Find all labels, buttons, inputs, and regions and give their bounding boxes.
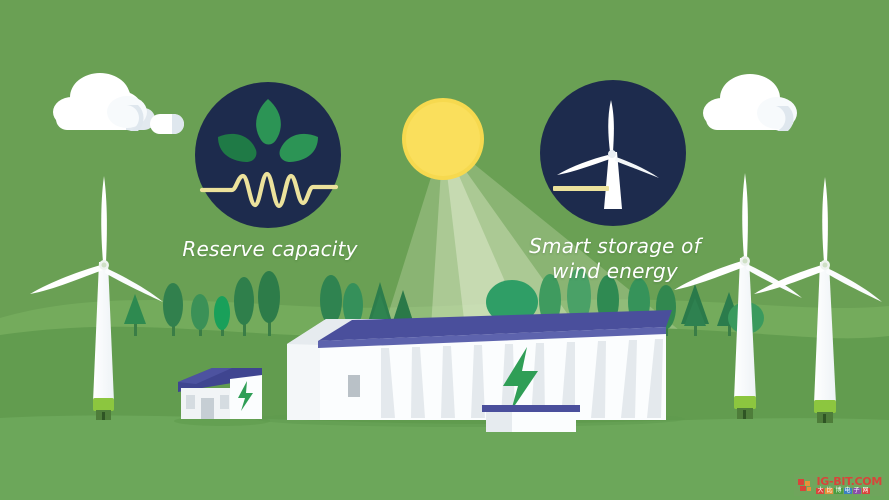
label-reserve-capacity: Reserve capacity (170, 237, 370, 262)
watermark-sub-block: 子 (853, 488, 861, 494)
watermark-sub-block: 网 (862, 488, 870, 494)
watermark-subtitle: 大 比 博 电 子 网 (816, 488, 882, 494)
scene-artwork (0, 0, 889, 500)
cloud-left-small (150, 114, 184, 134)
front-platform (482, 405, 580, 432)
wind-turbine-icon[interactable] (540, 80, 686, 226)
watermark-sub-block: 电 (844, 488, 852, 494)
watermark-sub-block: 比 (825, 488, 833, 494)
sun-inner (406, 102, 480, 176)
watermark-title: IG-BIT.COM (816, 476, 882, 487)
watermark-sub-block: 博 (834, 488, 842, 494)
label-smart-storage: Smart storage of wind energy (505, 234, 725, 284)
illustration-scene: Reserve capacity Smart storage of wind e… (0, 0, 889, 500)
main-storage-warehouse (255, 310, 685, 427)
ground-base (0, 424, 889, 500)
watermark-text: IG-BIT.COM 大 比 博 电 子 网 (816, 476, 882, 494)
watermark-logo-icon (797, 477, 813, 493)
watermark-sub-block: 大 (816, 488, 824, 494)
energy-level-bar (553, 186, 609, 191)
leaf-waveform-icon[interactable] (195, 82, 341, 228)
ig-bit-watermark: IG-BIT.COM 大 比 博 电 子 网 (794, 474, 885, 496)
